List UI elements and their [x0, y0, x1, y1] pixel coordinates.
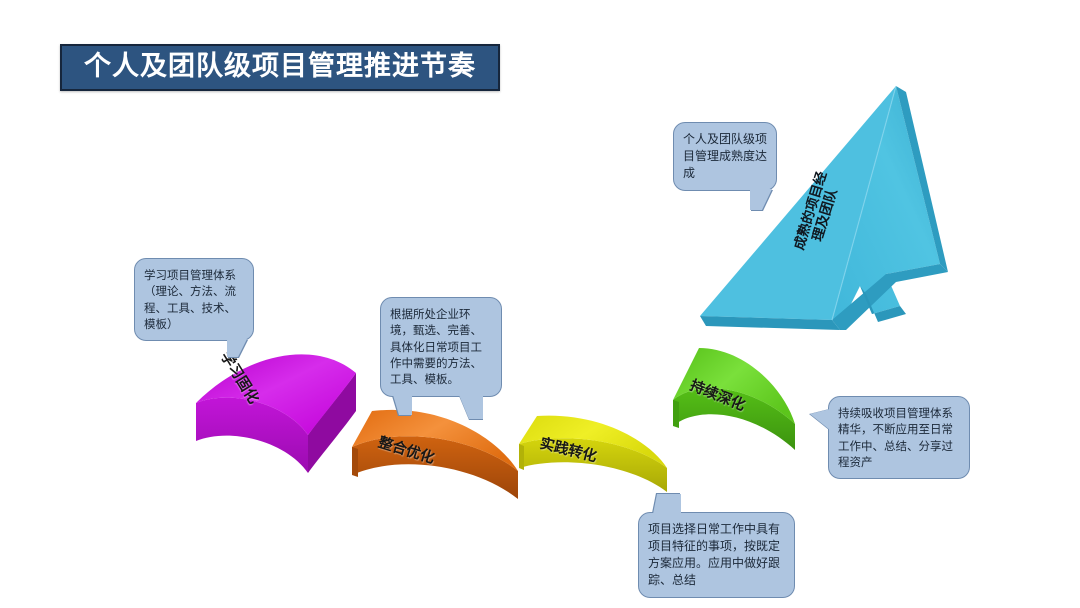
page-title: 个人及团队级项目管理推进节奏	[60, 44, 500, 91]
callout-practice-text: 项目选择日常工作中具有项目特征的事项，按既定方案应用。应用中做好跟踪、总结	[648, 521, 785, 589]
callout-integrate[interactable]: 根据所处企业环境，甄选、完善、具体化日常项目工作中需要的方法、工具、模板。	[380, 297, 502, 397]
slide-canvas: 个人及团队级项目管理推进节奏 学习固化	[0, 0, 1080, 608]
callout-integrate-tail	[393, 395, 412, 415]
callout-maturity[interactable]: 个人及团队级项目管理成熟度达成	[673, 122, 777, 191]
callout-learn-tail	[227, 339, 247, 357]
callout-practice[interactable]: 项目选择日常工作中具有项目特征的事项，按既定方案应用。应用中做好跟踪、总结	[638, 512, 795, 598]
callout-deepen-text: 持续吸收项目管理体系精华，不断应用至日常工作中、总结、分享过程资产	[838, 405, 960, 470]
callout-deepen[interactable]: 持续吸收项目管理体系精华，不断应用至日常工作中、总结、分享过程资产	[828, 396, 970, 479]
callout-maturity-text: 个人及团队级项目管理成熟度达成	[683, 131, 767, 182]
callout-integrate-text: 根据所处企业环境，甄选、完善、具体化日常项目工作中需要的方法、工具、模板。	[390, 306, 492, 388]
callout-learn[interactable]: 学习项目管理体系（理论、方法、流程、工具、技术、模板）	[134, 258, 254, 341]
growth-arrow: 成熟的项目经 理及团队	[700, 78, 1000, 348]
callout-practice-tail	[653, 494, 681, 514]
page-title-text: 个人及团队级项目管理推进节奏	[84, 51, 476, 82]
step-block-integrate[interactable]: 整合优化	[348, 395, 538, 520]
callout-learn-text: 学习项目管理体系（理论、方法、流程、工具、技术、模板）	[144, 267, 244, 332]
callout-integrate-tail-secondary	[459, 395, 483, 419]
callout-maturity-tail	[750, 189, 772, 210]
callout-deepen-tail	[810, 409, 830, 430]
